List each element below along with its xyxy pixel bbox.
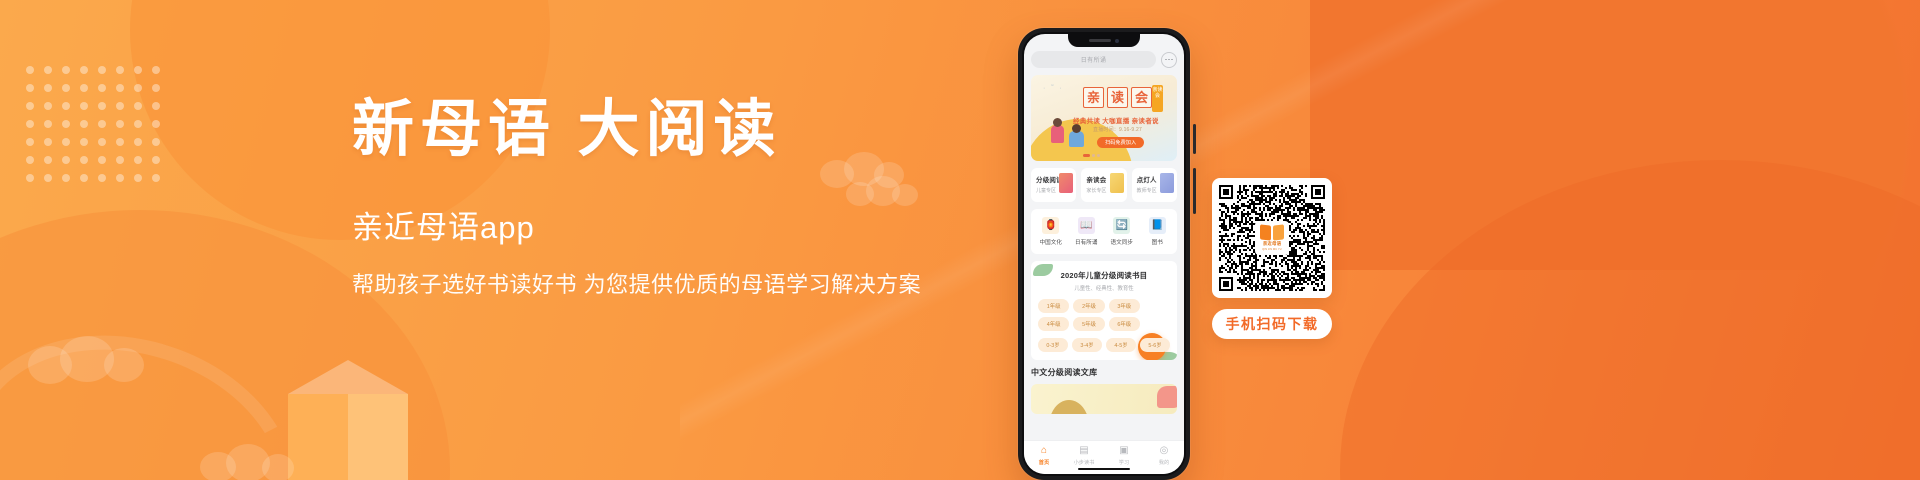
age-chip[interactable]: 4-5岁	[1106, 338, 1136, 352]
book-art-icon	[1110, 173, 1124, 193]
qr-code[interactable]: 亲近母语 QIN JIN MU YU	[1219, 185, 1325, 291]
decor-cube	[288, 360, 408, 480]
category-cards: 分级阅读 儿童专区 亲读会 家长专区 点灯人 教师专区	[1031, 168, 1177, 202]
quick-link-books[interactable]: 📘 图书	[1140, 217, 1176, 246]
quick-link-recite[interactable]: 📖 日有所诵	[1069, 217, 1105, 246]
promo-title-char: 亲	[1083, 87, 1104, 108]
search-input[interactable]: 日有所诵	[1031, 51, 1156, 68]
tab-label: 学习	[1104, 459, 1144, 466]
grade-chip[interactable]: 6年级	[1109, 317, 1140, 331]
grade-chip-row: 1年级 2年级 3年级 4年级 5年级 6年级	[1038, 299, 1170, 331]
speaker-icon	[1089, 39, 1111, 42]
category-card-teacher[interactable]: 点灯人 教师专区	[1132, 168, 1177, 202]
quick-link-label: 语文同步	[1104, 238, 1140, 246]
phone-mockup: 日有所诵 · ˜ · 亲 读 会 亲读会	[1018, 28, 1190, 480]
qr-card: 亲近母语 QIN JIN MU YU	[1212, 178, 1332, 298]
hero-copy: 新母语 大阅读 亲近母语app 帮助孩子选好书读好书 为您提供优质的母语学习解决…	[352, 94, 1032, 300]
grade-chip[interactable]: 3年级	[1109, 299, 1140, 313]
quick-links-row: 🏮 中国文化 📖 日有所诵 🔄 语文同步 📘	[1031, 209, 1177, 254]
phone-screen: 日有所诵 · ˜ · 亲 读 会 亲读会	[1024, 34, 1184, 474]
app-name-label: 亲近母语app	[352, 209, 1032, 246]
booklist-card: 2020年儿童分级阅读书目 儿童性、经典性、教育性 1年级 2年级 3年级 4年…	[1031, 261, 1177, 360]
app-content: 日有所诵 · ˜ · 亲 读 会 亲读会	[1024, 34, 1184, 414]
decor-cloud-c	[28, 336, 148, 392]
grade-chip[interactable]: 1年级	[1038, 299, 1069, 313]
grade-chip[interactable]: 5年级	[1073, 317, 1104, 331]
brand-name: 亲近母语	[1263, 241, 1281, 247]
book-icon: 📘	[1149, 217, 1166, 234]
phone-notch	[1068, 34, 1140, 47]
category-card-graded-reading[interactable]: 分级阅读 儿童专区	[1031, 168, 1076, 202]
quick-link-label: 日有所诵	[1069, 238, 1105, 246]
library-decor-1	[1049, 400, 1089, 414]
promo-date: 直播时间：9.16-9.27	[1093, 126, 1142, 133]
promo-title-char: 读	[1107, 87, 1128, 108]
home-indicator	[1078, 468, 1130, 471]
profile-icon: ◎	[1144, 445, 1184, 457]
page-title: 新母语 大阅读	[352, 94, 1032, 167]
book-art-icon	[1160, 173, 1174, 193]
bottom-tab-bar: ⌂ 首页 ▤ 小步读书 ▣ 学习 ◎ 我的	[1024, 440, 1184, 474]
phone-bezel: 日有所诵 · ˜ · 亲 读 会 亲读会	[1022, 32, 1186, 476]
kid-illustration-1	[1051, 125, 1064, 143]
brand-name-latin: QIN JIN MU YU	[1262, 248, 1281, 251]
promo-card[interactable]: · ˜ · 亲 读 会 亲读会 经典共读 大咖直播 亲读者说 直播时间：9.16…	[1031, 75, 1177, 161]
age-chip[interactable]: 0-3岁	[1038, 338, 1068, 352]
birds-icon: · ˜ ·	[1043, 85, 1064, 92]
library-section-title: 中文分级阅读文库	[1031, 367, 1177, 378]
culture-icon: 🏮	[1042, 217, 1059, 234]
open-book-icon	[1260, 225, 1284, 240]
tab-label: 首页	[1024, 459, 1064, 466]
recite-icon: 📖	[1078, 217, 1095, 234]
qr-download-block: 亲近母语 QIN JIN MU YU 手机扫码下载	[1212, 178, 1332, 339]
carousel-dots[interactable]	[1083, 154, 1100, 157]
tab-study[interactable]: ▣ 学习	[1104, 445, 1144, 466]
quick-link-label: 中国文化	[1033, 238, 1069, 246]
study-icon: ▣	[1104, 445, 1144, 457]
age-chip[interactable]: 5-6岁	[1140, 338, 1170, 352]
age-chip-row: 0-3岁 3-4岁 4-5岁 5-6岁	[1038, 338, 1170, 352]
decor-dot-grid	[26, 66, 162, 202]
quick-link-culture[interactable]: 🏮 中国文化	[1033, 217, 1069, 246]
tab-reading[interactable]: ▤ 小步读书	[1064, 445, 1104, 466]
decor-arc-left	[0, 294, 332, 480]
phone-power-button	[1193, 168, 1196, 214]
book-art-icon	[1059, 173, 1073, 193]
tab-profile[interactable]: ◎ 我的	[1144, 445, 1184, 466]
library-card[interactable]	[1031, 384, 1177, 414]
decor-blob-bottom-right	[1340, 160, 1920, 480]
kid-illustration-2	[1069, 131, 1084, 147]
tab-home[interactable]: ⌂ 首页	[1024, 445, 1064, 466]
booklist-title: 2020年儿童分级阅读书目	[1038, 270, 1170, 281]
promo-title: 亲 读 会	[1083, 87, 1152, 108]
promo-subtitle: 经典共读 大咖直播 亲读者说	[1073, 115, 1159, 125]
phone-volume-button	[1193, 124, 1196, 154]
camera-icon	[1115, 39, 1119, 43]
booklist-subtitle: 儿童性、经典性、教育性	[1038, 284, 1170, 292]
quick-link-sync[interactable]: 🔄 语文同步	[1104, 217, 1140, 246]
grade-chip[interactable]: 2年级	[1073, 299, 1104, 313]
tab-label: 我的	[1144, 459, 1184, 466]
grade-chip[interactable]: 4年级	[1038, 317, 1069, 331]
promo-flag: 亲读会	[1152, 85, 1163, 112]
search-row: 日有所诵	[1031, 51, 1177, 68]
tagline-text: 帮助孩子选好书读好书 为您提供优质的母语学习解决方案	[352, 270, 1032, 300]
tab-label: 小步读书	[1064, 459, 1104, 466]
download-button[interactable]: 手机扫码下载	[1212, 309, 1332, 339]
age-chip[interactable]: 3-4岁	[1072, 338, 1102, 352]
promo-title-char: 会	[1131, 87, 1152, 108]
promo-banner: 新母语 大阅读 亲近母语app 帮助孩子选好书读好书 为您提供优质的母语学习解决…	[0, 0, 1920, 480]
decor-cloud-d	[200, 444, 296, 480]
home-icon: ⌂	[1024, 445, 1064, 457]
message-icon[interactable]	[1161, 52, 1177, 68]
decor-blob-top-right	[1310, 0, 1920, 270]
brand-logo: 亲近母语 QIN JIN MU YU	[1255, 221, 1289, 255]
sync-icon: 🔄	[1113, 217, 1130, 234]
promo-cta-button[interactable]: 扫码免费加入	[1097, 137, 1144, 148]
quick-link-label: 图书	[1140, 238, 1176, 246]
category-card-parent-club[interactable]: 亲读会 家长专区	[1081, 168, 1126, 202]
reading-icon: ▤	[1064, 445, 1104, 457]
library-decor-2	[1157, 386, 1177, 408]
